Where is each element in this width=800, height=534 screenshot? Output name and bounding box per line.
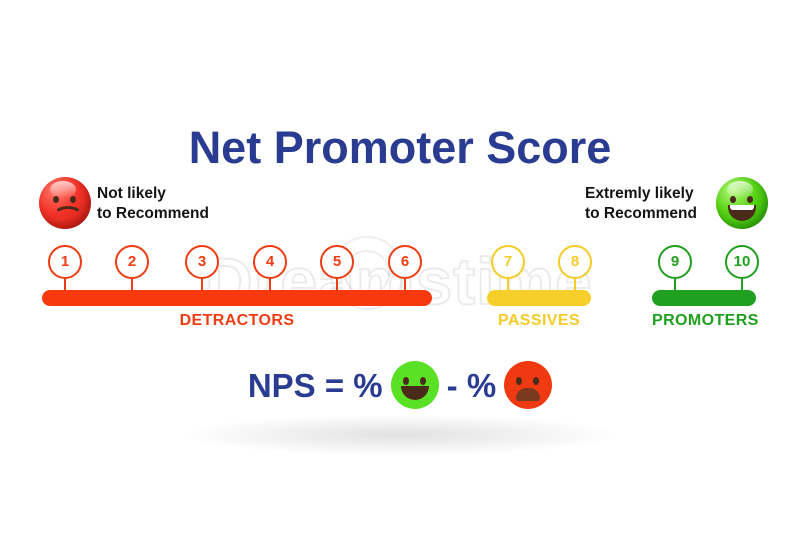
- passives-bar: [487, 290, 591, 306]
- frown-mouth: [53, 206, 83, 226]
- ground-shadow: [185, 415, 615, 455]
- score-circle-2[interactable]: 2: [115, 245, 149, 279]
- promoter-happy-face-icon: [391, 361, 439, 409]
- sad-face-sphere-icon: [39, 177, 91, 229]
- not-likely-line-1: Not likely: [97, 184, 209, 204]
- eye-right: [420, 377, 426, 385]
- not-likely-label: Not likely to Recommend: [97, 184, 209, 224]
- score-circle-6[interactable]: 6: [388, 245, 422, 279]
- nps-formula-minus: - %: [447, 369, 497, 402]
- eye-right: [747, 196, 753, 203]
- smile-mouth: [728, 205, 756, 221]
- score-circle-7[interactable]: 7: [491, 245, 525, 279]
- score-circle-1[interactable]: 1: [48, 245, 82, 279]
- eye-right: [70, 196, 76, 203]
- eye-left: [53, 196, 59, 203]
- score-circle-4[interactable]: 4: [253, 245, 287, 279]
- page-title: Net Promoter Score: [0, 122, 800, 174]
- score-circle-10[interactable]: 10: [725, 245, 759, 279]
- extremely-likely-line-1: Extremly likely: [585, 184, 697, 204]
- promoters-label: PROMOTERS: [652, 312, 756, 330]
- eye-left: [516, 377, 522, 385]
- happy-face-sphere-icon: [716, 177, 768, 229]
- score-circle-5[interactable]: 5: [320, 245, 354, 279]
- extremely-likely-label: Extremly likely to Recommend: [585, 184, 697, 224]
- score-circle-9[interactable]: 9: [658, 245, 692, 279]
- detractors-label: DETRACTORS: [42, 312, 432, 330]
- smile-mouth: [401, 386, 429, 400]
- nps-formula-prefix: NPS = %: [248, 369, 383, 402]
- score-circle-8[interactable]: 8: [558, 245, 592, 279]
- not-likely-line-2: to Recommend: [97, 204, 209, 224]
- nps-formula: NPS = % - %: [0, 360, 800, 410]
- extremely-likely-line-2: to Recommend: [585, 204, 697, 224]
- score-circle-3[interactable]: 3: [185, 245, 219, 279]
- nps-infographic: Dreamstime Net Promoter Score Not likely…: [0, 0, 800, 534]
- frown-mouth: [516, 388, 540, 401]
- detractors-bar: [42, 290, 432, 306]
- promoters-bar: [652, 290, 756, 306]
- detractor-sad-face-icon: [504, 361, 552, 409]
- eye-left: [730, 196, 736, 203]
- eye-left: [403, 377, 409, 385]
- passives-label: PASSIVES: [487, 312, 591, 330]
- eye-right: [533, 377, 539, 385]
